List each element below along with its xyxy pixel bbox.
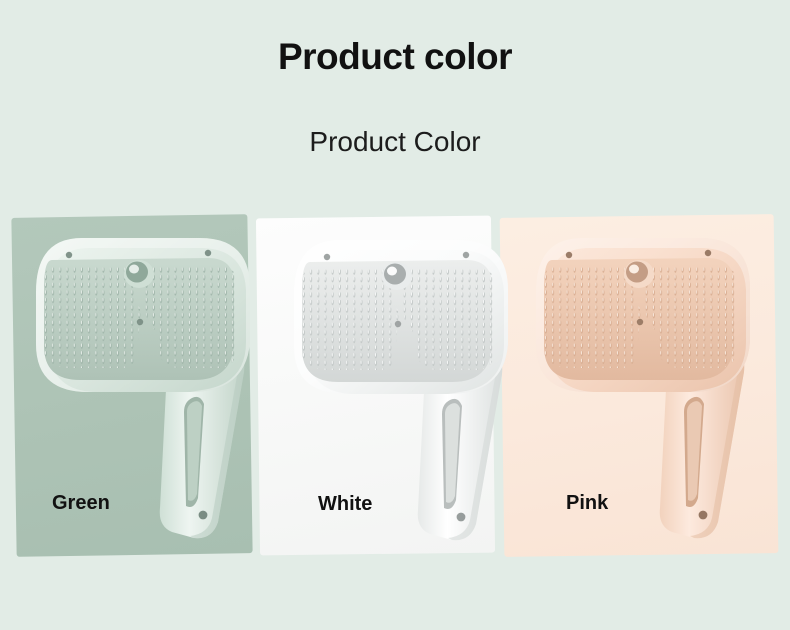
product-color-card-white[interactable] bbox=[256, 216, 495, 556]
product-color-card-green[interactable] bbox=[11, 214, 252, 557]
color-label-green: Green bbox=[52, 492, 110, 515]
product-color-gallery: Green bbox=[0, 0, 790, 630]
product-color-card-pink[interactable] bbox=[500, 214, 779, 557]
card-background-white bbox=[256, 216, 495, 556]
card-background-green bbox=[11, 214, 252, 557]
product-color-page: Product color Product Color bbox=[0, 0, 790, 630]
color-label-pink: Pink bbox=[566, 492, 608, 515]
color-label-white: White bbox=[318, 493, 372, 516]
card-background-pink bbox=[500, 214, 779, 557]
